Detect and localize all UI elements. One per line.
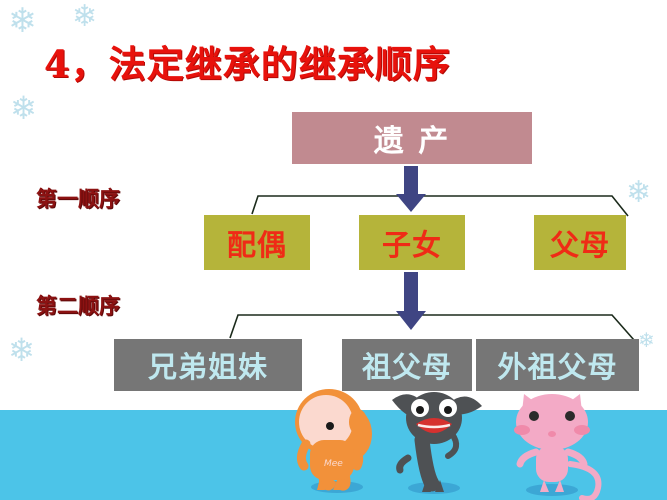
page-title: 4，法定继承的继承顺序: [44, 34, 451, 88]
box-estate-label: 遗 产: [374, 116, 450, 160]
label-second-order: 第二顺序: [36, 290, 120, 320]
snowflake-icon: ❄: [10, 92, 37, 124]
box-front-face: 外祖父母: [476, 339, 639, 391]
box-parents[interactable]: 父母: [534, 215, 626, 270]
box-maternal-grandparents[interactable]: 外祖父母: [476, 339, 639, 391]
mascot-pink-cat: [500, 390, 630, 500]
box-siblings[interactable]: 兄弟姐妹: [114, 339, 302, 391]
mascot-badge-text: Mee: [324, 459, 343, 469]
box-front-face: 子女: [359, 215, 465, 270]
box-children[interactable]: 子女: [359, 215, 465, 270]
snowflake-icon: ❄: [8, 334, 35, 366]
box-siblings-label: 兄弟姐妹: [148, 344, 268, 386]
arrow-first-to-second-order: [396, 272, 426, 330]
label-first-order: 第一顺序: [36, 183, 120, 213]
box-paternal-grandparents-label: 祖父母: [362, 344, 452, 386]
slide-canvas: ❄❄❄❄❄❄❄ 4，法定继承的继承顺序 第一顺序 第二顺序 遗 产: [0, 0, 667, 500]
snowflake-icon: ❄: [638, 330, 655, 350]
box-front-face: 遗 产: [292, 112, 532, 164]
snowflake-icon: ❄: [72, 2, 97, 32]
arrow-estate-to-first-order: [396, 166, 426, 212]
bracket-second-order: [230, 315, 634, 340]
mascot-orange-monkey: Mee: [280, 382, 390, 500]
box-estate[interactable]: 遗 产: [292, 112, 532, 164]
box-parents-label: 父母: [550, 222, 610, 264]
snowflake-icon: ❄: [626, 178, 651, 208]
mascot-dark-bat: [382, 384, 492, 500]
box-maternal-grandparents-label: 外祖父母: [497, 344, 617, 386]
box-front-face: 兄弟姐妹: [114, 339, 302, 391]
snowflake-icon: ❄: [8, 4, 37, 38]
box-spouse-label: 配偶: [227, 222, 287, 264]
bracket-first-order: [252, 196, 628, 216]
box-children-label: 子女: [382, 222, 442, 264]
box-spouse[interactable]: 配偶: [204, 215, 310, 270]
box-front-face: 配偶: [204, 215, 310, 270]
box-front-face: 父母: [534, 215, 626, 270]
